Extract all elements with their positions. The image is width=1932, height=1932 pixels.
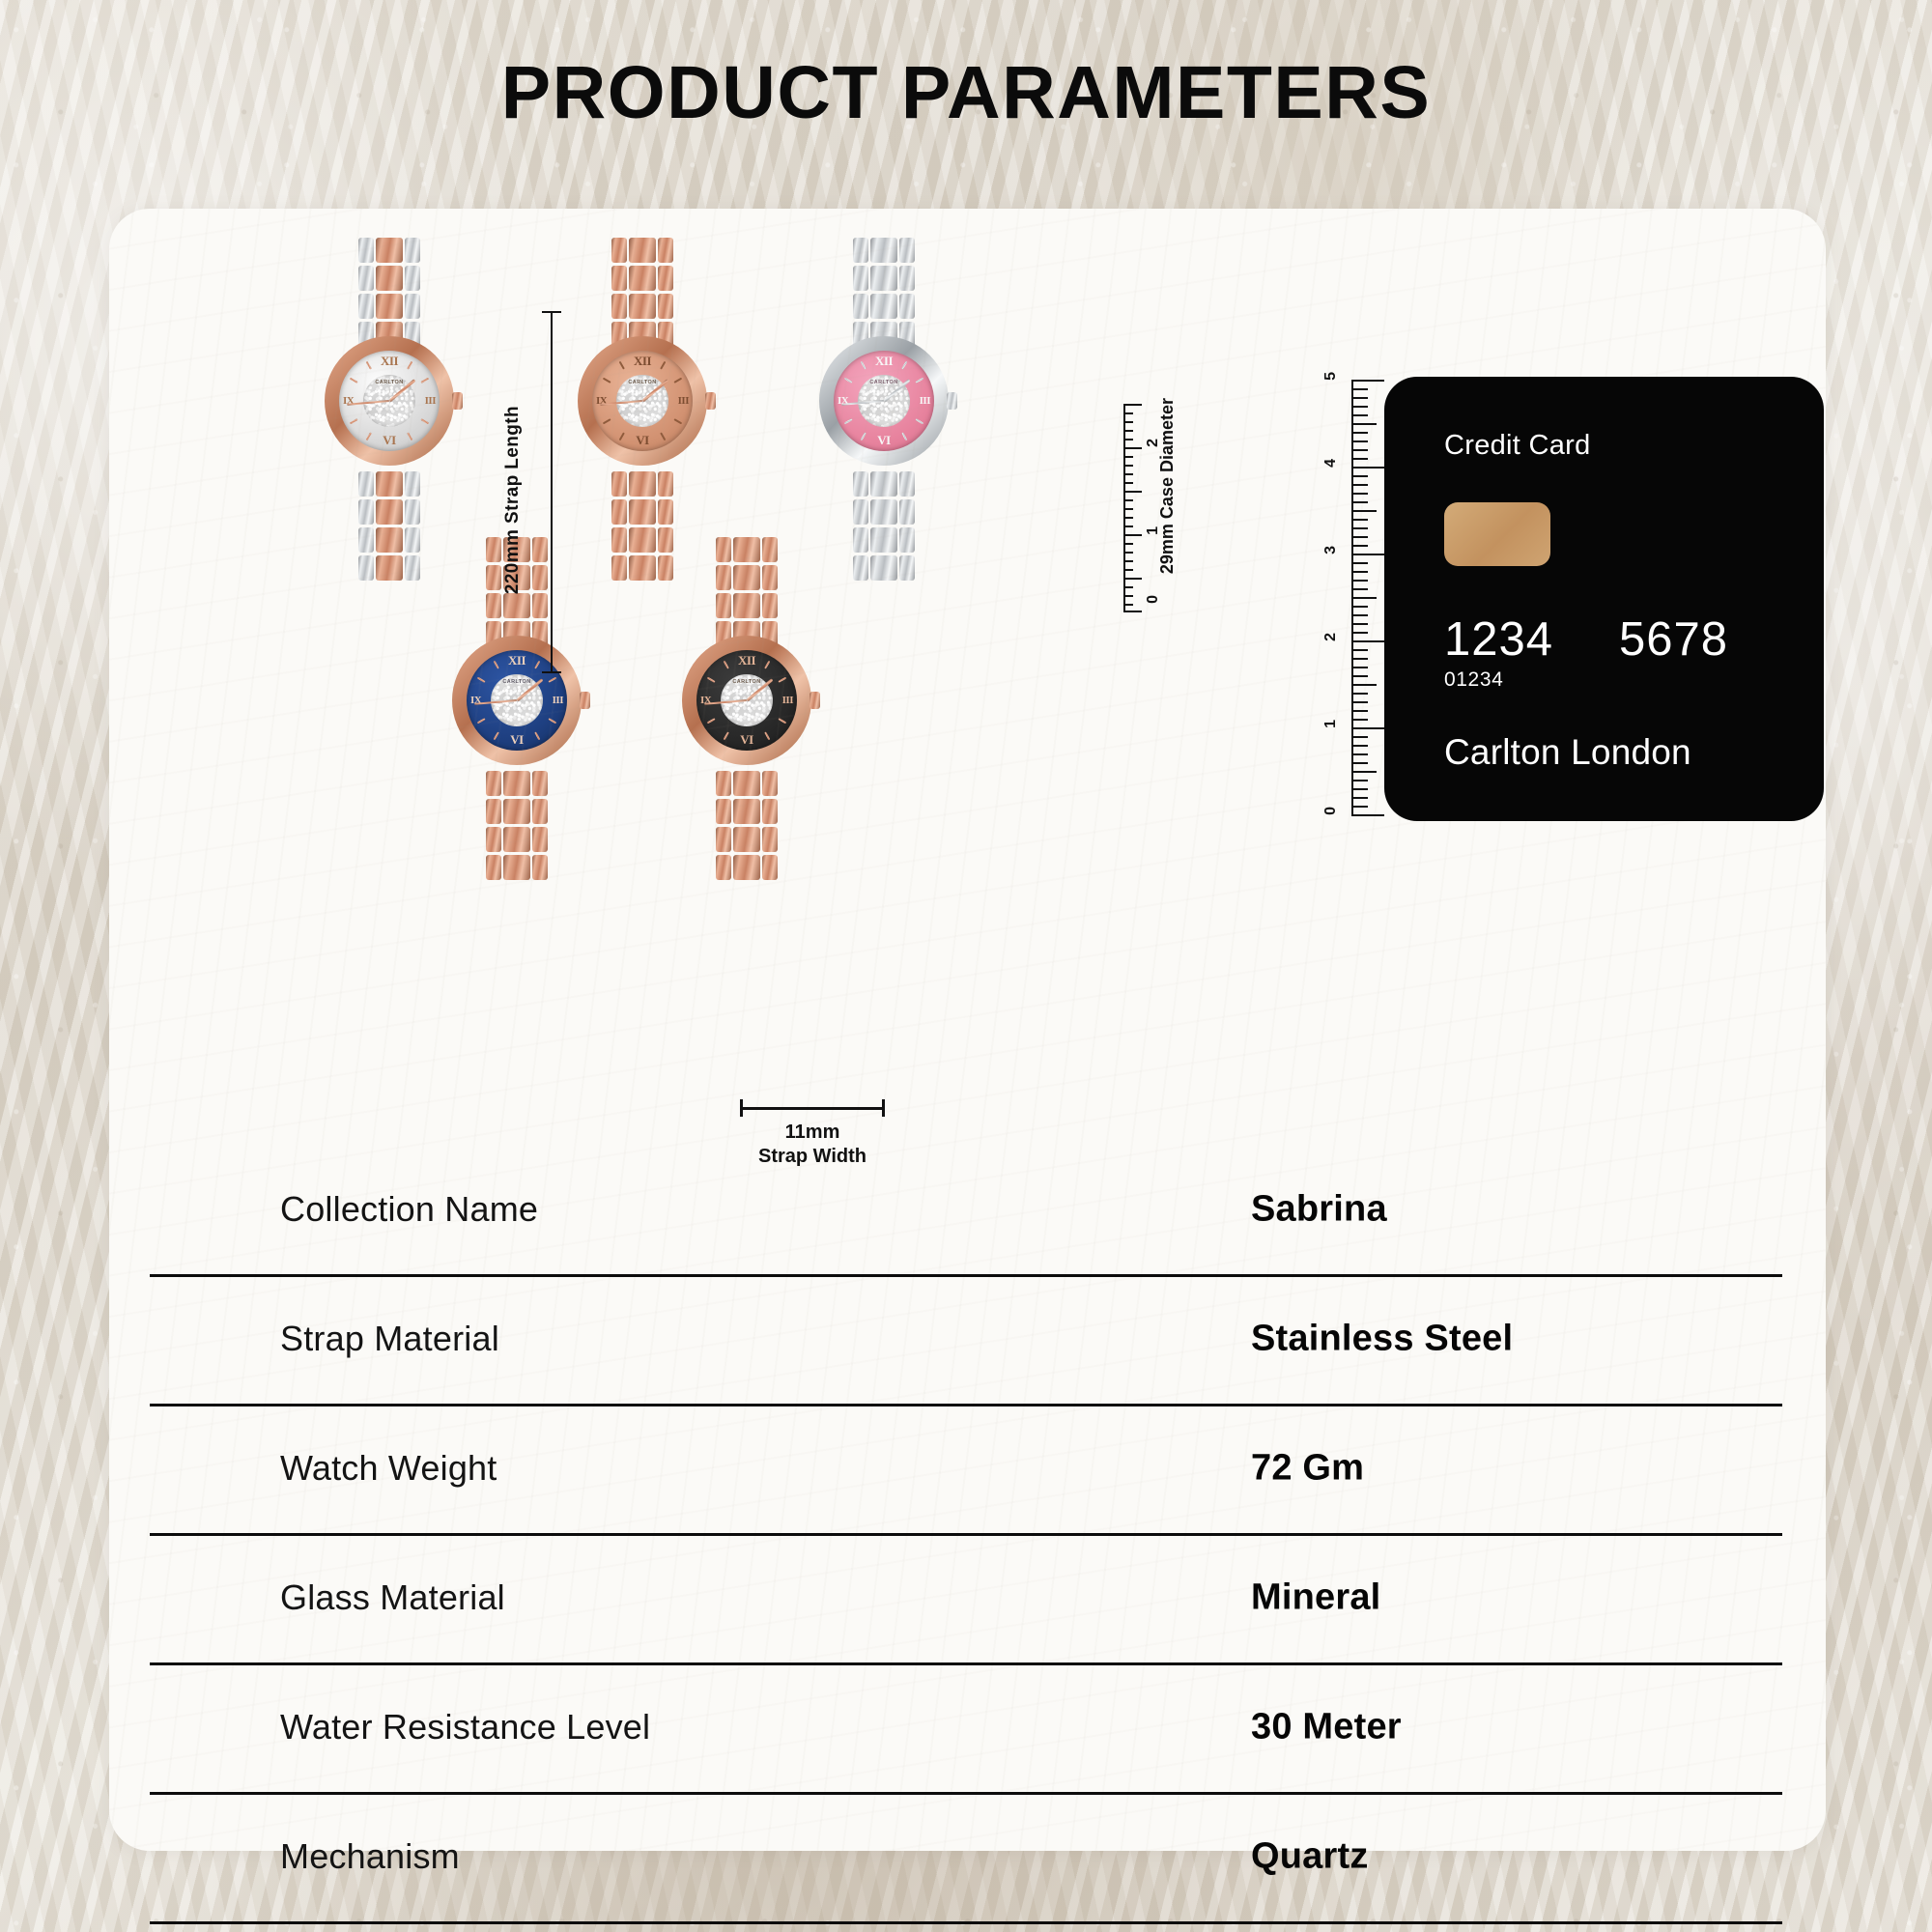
numeral-three: III	[782, 695, 793, 706]
numeral-three: III	[553, 695, 563, 706]
numeral-twelve: XII	[634, 354, 651, 369]
numeral-twelve: XII	[381, 354, 398, 369]
credit-card-sub-number: 01234	[1444, 668, 1824, 692]
watch-band-lower	[486, 771, 548, 883]
ruler-tick-label: 2	[1322, 633, 1340, 641]
strap-width-dimension-line	[740, 1107, 885, 1110]
numeral-six: VI	[636, 433, 648, 448]
watch-brand-text: CARLTON	[502, 679, 530, 685]
ruler-tick-label: 3	[1322, 546, 1340, 554]
table-row: Water Resistance Level 30 Meter	[0, 1662, 1932, 1792]
watch-crown	[810, 692, 820, 709]
spec-label: Watch Weight	[280, 1448, 497, 1489]
numeral-twelve: XII	[875, 354, 893, 369]
spec-value: Quartz	[1251, 1836, 1369, 1878]
watch-dial: XII VI IX III CARLTON	[339, 351, 440, 451]
spec-value: 72 Gm	[1251, 1448, 1364, 1490]
credit-card-number-group-2: 5678	[1619, 612, 1728, 667]
watch-silver-pink-dial[interactable]: XII VI IX III CARLTON	[797, 238, 971, 556]
watch-crown	[580, 692, 590, 709]
spec-label: Collection Name	[280, 1189, 538, 1230]
spec-value: Stainless Steel	[1251, 1319, 1513, 1360]
numeral-three: III	[920, 395, 930, 407]
numeral-six: VI	[510, 732, 523, 748]
spec-value: 30 Meter	[1251, 1707, 1402, 1748]
credit-card-brand: Carlton London	[1444, 732, 1824, 773]
spec-label: Glass Material	[280, 1577, 505, 1618]
numeral-twelve: XII	[508, 653, 526, 668]
numeral-six: VI	[740, 732, 753, 748]
credit-card-chip-icon	[1444, 502, 1550, 566]
spec-table: Collection Name Sabrina Strap Material S…	[0, 1145, 1932, 1921]
table-row: Strap Material Stainless Steel	[0, 1274, 1932, 1404]
strap-length-label: 220mm Strap Length	[502, 406, 524, 594]
watch-case: XII VI IX III CARLTON	[578, 336, 707, 466]
ruler-tick-label: 1	[1322, 720, 1340, 728]
watch-crown	[705, 392, 716, 410]
ruler-tick-label: 5	[1322, 372, 1340, 381]
watch-band-upper	[853, 238, 915, 350]
watch-crown	[947, 392, 957, 410]
watch-brand-text: CARLTON	[732, 679, 760, 685]
table-row: Glass Material Mineral	[0, 1533, 1932, 1662]
case-diameter-label: 29mm Case Diameter	[1157, 398, 1178, 574]
ruler-tick-label: 0	[1322, 807, 1340, 815]
credit-card[interactable]: Credit Card 1234 5678 01234 Carlton Lond…	[1384, 377, 1824, 821]
table-row: Mechanism Quartz	[0, 1792, 1932, 1921]
spec-label: Water Resistance Level	[280, 1707, 650, 1747]
watch-two-tone-rose-silver[interactable]: XII VI IX III CARLTON	[302, 238, 476, 556]
spec-label: Strap Material	[280, 1319, 499, 1359]
strap-width-value: 11mm	[785, 1122, 840, 1143]
watch-band-lower	[358, 471, 420, 583]
watch-dial: XII VI IX III CARLTON	[696, 650, 797, 751]
watch-dial: XII VI IX III CARLTON	[592, 351, 693, 451]
strap-length-dimension-line	[551, 311, 553, 673]
watch-band-lower	[716, 771, 778, 883]
watch-case: XII VI IX III CARLTON	[682, 636, 811, 765]
ruler-tick-label: 4	[1322, 459, 1340, 468]
numeral-six: VI	[877, 433, 890, 448]
spec-value: Mineral	[1251, 1577, 1380, 1619]
numeral-six: VI	[383, 433, 395, 448]
numeral-three: III	[678, 395, 689, 407]
watch-band-upper	[358, 238, 420, 350]
watch-brand-text: CARLTON	[869, 380, 897, 385]
watch-all-rose-gold[interactable]: XII VI IX III CARLTON	[555, 238, 729, 556]
watch-case: XII VI IX III CARLTON	[325, 336, 454, 466]
watch-dial: XII VI IX III CARLTON	[834, 351, 934, 451]
credit-card-number: 1234 5678	[1444, 612, 1824, 667]
credit-card-label: Credit Card	[1444, 430, 1824, 462]
watch-case: XII VI IX III CARLTON	[819, 336, 949, 466]
spec-value: Sabrina	[1251, 1189, 1387, 1231]
spec-label: Mechanism	[280, 1836, 460, 1877]
table-row: Collection Name Sabrina	[0, 1145, 1932, 1274]
credit-card-number-group-1: 1234	[1444, 612, 1553, 667]
watch-band-lower	[853, 471, 915, 583]
numeral-twelve: XII	[738, 653, 755, 668]
page-title: PRODUCT PARAMETERS	[0, 56, 1932, 130]
table-row: Watch Weight 72 Gm	[0, 1404, 1932, 1533]
watch-case: XII VI IX III CARLTON	[452, 636, 582, 765]
numeral-three: III	[425, 395, 436, 407]
table-divider	[150, 1921, 1782, 1924]
watch-brand-text: CARLTON	[628, 380, 656, 385]
watch-rose-gold-black-dial[interactable]: XII VI IX III CARLTON	[660, 537, 834, 856]
watch-brand-text: CARLTON	[375, 380, 403, 385]
ruler-tick-label: 0	[1145, 595, 1162, 604]
watch-band-upper	[611, 238, 673, 350]
watch-band-upper	[716, 537, 778, 649]
watch-crown	[452, 392, 463, 410]
